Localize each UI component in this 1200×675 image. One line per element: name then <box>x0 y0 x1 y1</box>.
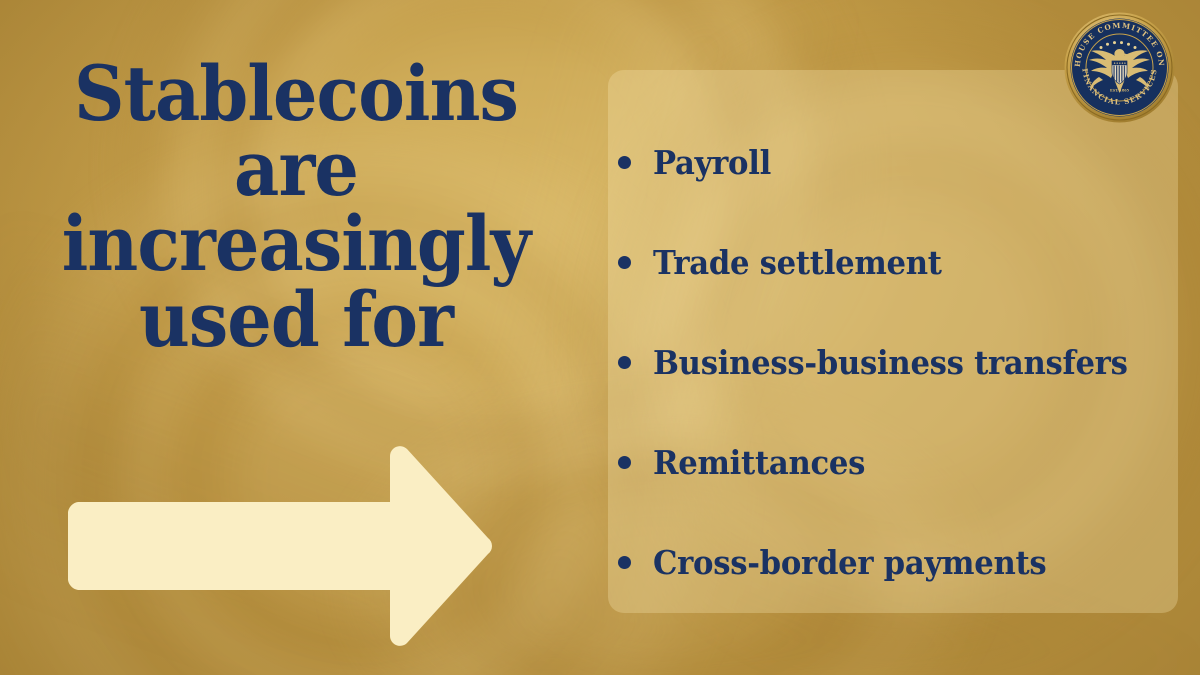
list-item-label: Trade settlement <box>653 246 942 279</box>
list-item: Remittances <box>618 412 1178 512</box>
arrow-right-icon <box>60 442 500 652</box>
headline-line-1: Stablecoins <box>20 56 572 131</box>
bullet-dot-icon <box>618 356 631 369</box>
page-title: Stablecoins are increasingly used for <box>20 56 572 357</box>
list-item: Business-business transfers <box>618 312 1178 412</box>
headline-line-3: increasingly <box>20 206 572 281</box>
headline-line-4: used for <box>20 282 572 357</box>
list-item-label: Business-business transfers <box>653 346 1128 379</box>
bullet-dot-icon <box>618 156 631 169</box>
bullet-dot-icon <box>618 556 631 569</box>
seal-est-text: EST. 1865 <box>1110 89 1130 93</box>
bullet-dot-icon <box>618 256 631 269</box>
list-item-label: Payroll <box>653 146 771 179</box>
slide-canvas: Stablecoins are increasingly used for Pa… <box>0 0 1200 675</box>
list-item: Payroll <box>618 112 1178 212</box>
bullet-dot-icon <box>618 456 631 469</box>
use-case-list: Payroll Trade settlement Business-busine… <box>618 112 1178 612</box>
headline-line-2: are <box>20 131 572 206</box>
list-item: Trade settlement <box>618 212 1178 312</box>
house-committee-financial-services-seal: HOUSE COMMITTEE ON FINANCIAL SERVICES <box>1063 11 1176 124</box>
list-item: Cross-border payments <box>618 512 1178 612</box>
list-item-label: Cross-border payments <box>653 546 1046 579</box>
list-item-label: Remittances <box>653 446 865 479</box>
